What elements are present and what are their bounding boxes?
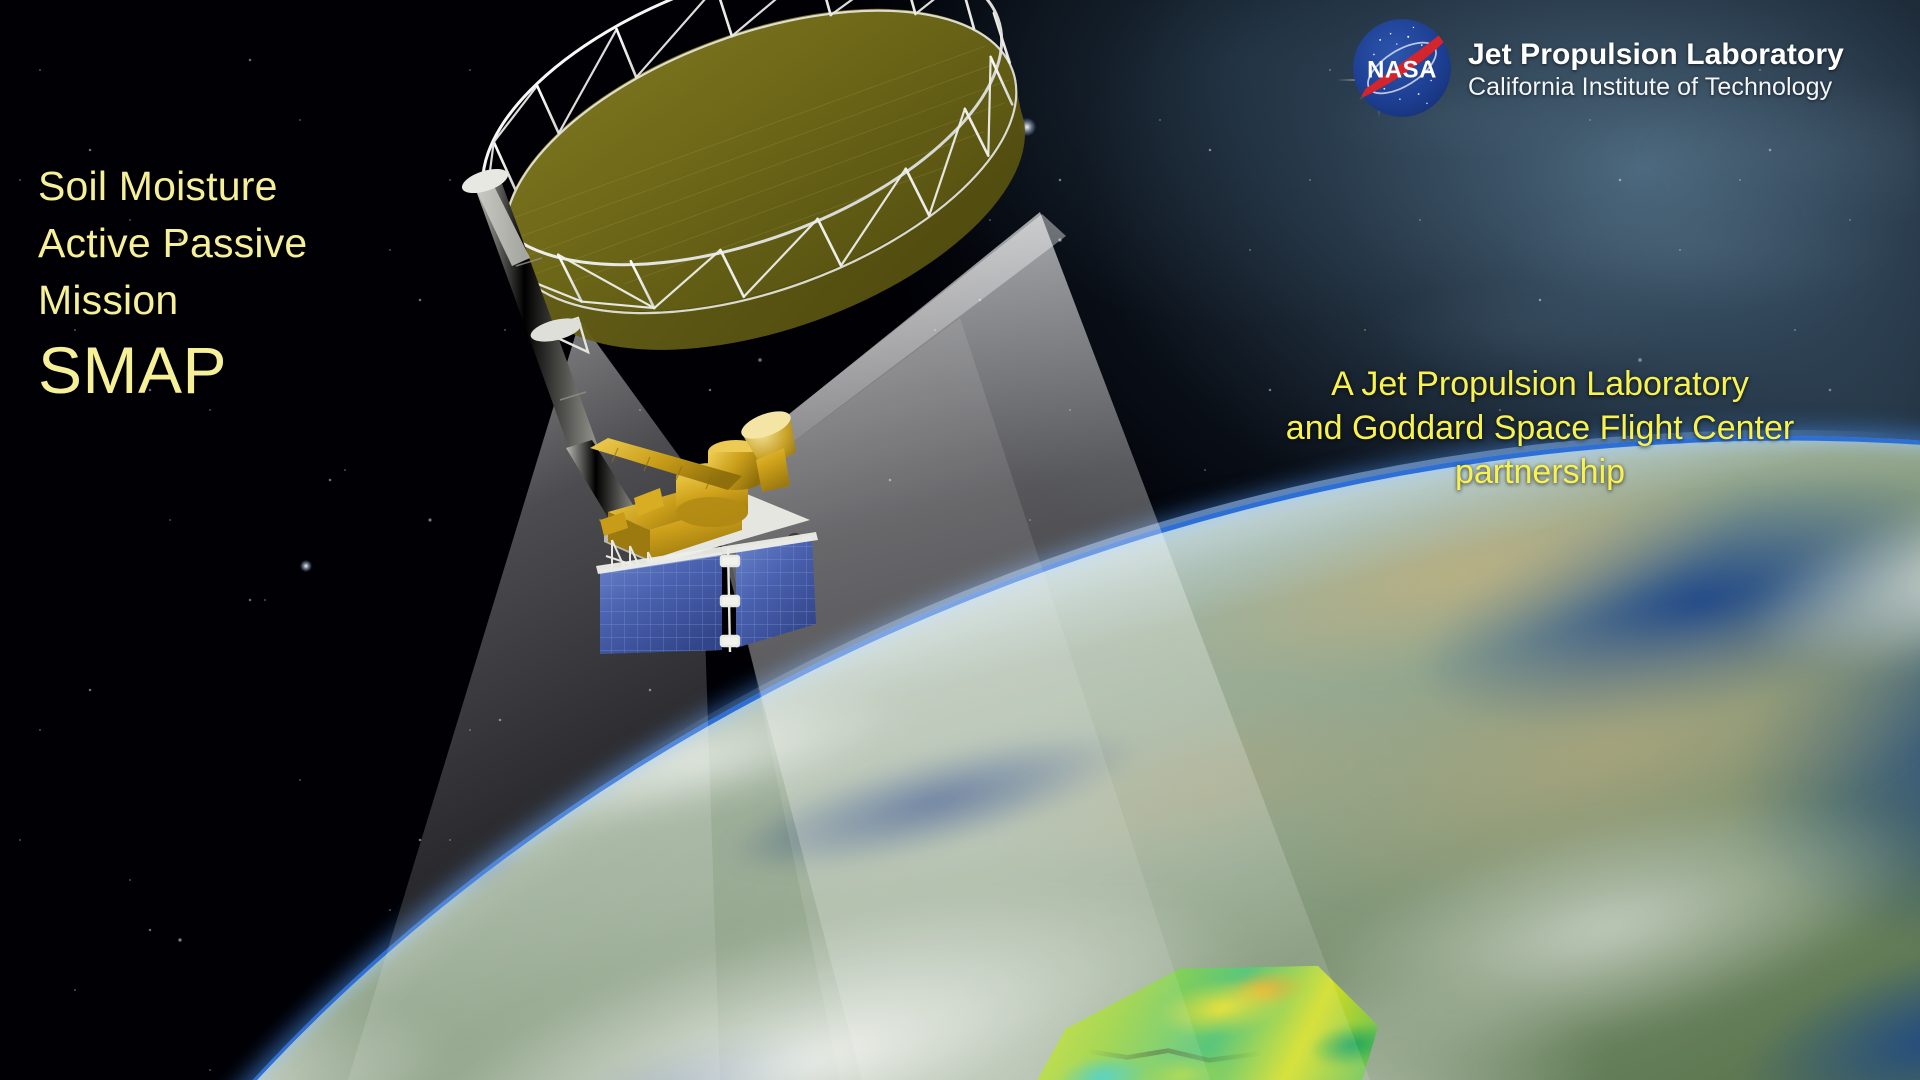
nasa-jpl-logo-lockup: NASA Jet Propulsion Laboratory Californi… (1350, 16, 1844, 120)
svg-text:NASA: NASA (1367, 56, 1437, 83)
partnership-line-2: and Goddard Space Flight Center (1225, 406, 1855, 450)
jpl-org-title: Jet Propulsion Laboratory (1468, 39, 1844, 71)
mission-title-line-3: Mission (38, 280, 307, 321)
mission-acronym: SMAP (38, 337, 307, 403)
nasa-meatball-icon: NASA (1350, 16, 1454, 120)
partnership-line-1: A Jet Propulsion Laboratory (1225, 362, 1855, 406)
mission-title-line-1: Soil Moisture (38, 166, 307, 207)
jpl-org-subtitle: California Institute of Technology (1468, 73, 1844, 102)
partnership-line-3: partnership (1225, 450, 1855, 494)
jpl-wordmark: Jet Propulsion Laboratory California Ins… (1468, 35, 1844, 102)
earth (0, 0, 1920, 1080)
partnership-block: A Jet Propulsion Laboratory and Goddard … (1225, 362, 1855, 495)
mission-title-block: Soil Moisture Active Passive Mission SMA… (38, 166, 307, 403)
scene-canvas: Soil Moisture Active Passive Mission SMA… (0, 0, 1920, 1080)
mission-title-line-2: Active Passive (38, 223, 307, 264)
